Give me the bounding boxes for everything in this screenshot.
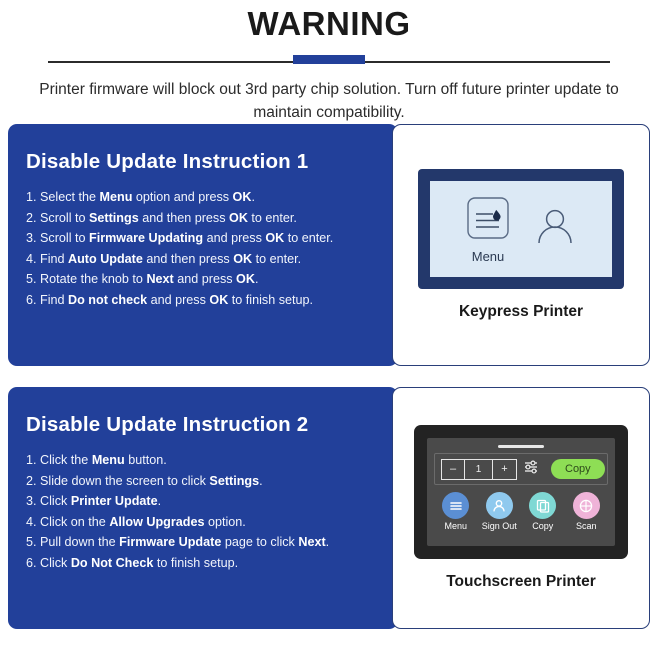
stepper-value: 1: [465, 460, 493, 479]
copy-quantity-stepper[interactable]: – 1 +: [441, 459, 517, 480]
touch-button-scan-label: Scan: [576, 521, 597, 531]
instruction-step: 2. Scroll to Settings and then press OK …: [26, 208, 398, 229]
instruction-2-steps: 1. Click the Menu button.2. Slide down t…: [26, 450, 398, 573]
instruction-1-heading: Disable Update Instruction 1: [26, 150, 398, 174]
instruction-step: 1. Select the Menu option and press OK.: [26, 187, 398, 208]
instruction-step: 6. Find Do not check and press OK to fin…: [26, 290, 398, 311]
touchscreen-icon-row: Menu Sign Out: [434, 485, 608, 540]
instruction-2-heading: Disable Update Instruction 2: [26, 413, 398, 437]
title-divider: [0, 52, 658, 68]
touch-button-sign-out-label: Sign Out: [482, 521, 517, 531]
instruction-panel-1-body: Disable Update Instruction 1 1. Select t…: [8, 124, 398, 366]
divider-accent-bar: [293, 55, 365, 64]
instruction-panel-1: Disable Update Instruction 1 1. Select t…: [8, 124, 650, 366]
copy-document-icon: [529, 492, 556, 519]
keypress-printer-caption: Keypress Printer: [459, 303, 583, 321]
keypress-printer-screen: Menu: [430, 181, 612, 277]
touchscreen-printer-card: – 1 + Copy: [392, 387, 650, 629]
instruction-step: 6. Click Do Not Check to finish setup.: [26, 553, 398, 574]
instruction-panel-2-body: Disable Update Instruction 2 1. Click th…: [8, 387, 398, 629]
touch-button-copy[interactable]: Copy: [521, 492, 565, 531]
instruction-step: 4. Click on the Allow Upgrades option.: [26, 512, 398, 533]
copy-control-row: – 1 + Copy: [434, 453, 608, 485]
stepper-increment-button[interactable]: +: [493, 460, 516, 479]
settings-sliders-icon[interactable]: [523, 459, 539, 480]
stepper-decrement-button[interactable]: –: [442, 460, 465, 479]
screen-notch: [498, 445, 544, 448]
keypress-printer-bezel: Menu: [418, 169, 624, 289]
instruction-step: 4. Find Auto Update and then press OK to…: [26, 249, 398, 270]
touchscreen-printer-screen: – 1 + Copy: [427, 438, 615, 546]
copy-action-button[interactable]: Copy: [551, 459, 605, 479]
document-ink-icon: [465, 195, 511, 246]
keypress-menu-label: Menu: [472, 249, 505, 264]
touch-button-copy-label: Copy: [532, 521, 553, 531]
warning-subtitle: Printer firmware will block out 3rd part…: [0, 78, 658, 124]
touch-button-menu[interactable]: Menu: [434, 492, 478, 531]
keypress-menu-button[interactable]: Menu: [465, 195, 511, 264]
user-sign-out-icon: [486, 492, 513, 519]
touchscreen-printer-bezel: – 1 + Copy: [414, 425, 628, 559]
instruction-step: 1. Click the Menu button.: [26, 450, 398, 471]
scan-grid-icon: [573, 492, 600, 519]
instruction-step: 2. Slide down the screen to click Settin…: [26, 471, 398, 492]
instruction-step: 5. Rotate the knob to Next and press OK.: [26, 269, 398, 290]
hamburger-menu-icon: [442, 492, 469, 519]
keypress-printer-card: Menu Keypress Printer: [392, 124, 650, 366]
touch-button-sign-out[interactable]: Sign Out: [478, 492, 522, 531]
instruction-panel-2: Disable Update Instruction 2 1. Click th…: [8, 387, 650, 629]
instruction-step: 3. Scroll to Firmware Updating and press…: [26, 228, 398, 249]
touch-button-scan[interactable]: Scan: [565, 492, 609, 531]
touchscreen-printer-caption: Touchscreen Printer: [446, 573, 596, 591]
touch-button-menu-label: Menu: [444, 521, 467, 531]
user-account-icon[interactable]: [533, 205, 577, 254]
page-title: WARNING: [0, 4, 658, 44]
warning-header: WARNING Printer firmware will block out …: [0, 0, 658, 124]
instruction-step: 3. Click Printer Update.: [26, 491, 398, 512]
instruction-1-steps: 1. Select the Menu option and press OK.2…: [26, 187, 398, 310]
instruction-step: 5. Pull down the Firmware Update page to…: [26, 532, 398, 553]
